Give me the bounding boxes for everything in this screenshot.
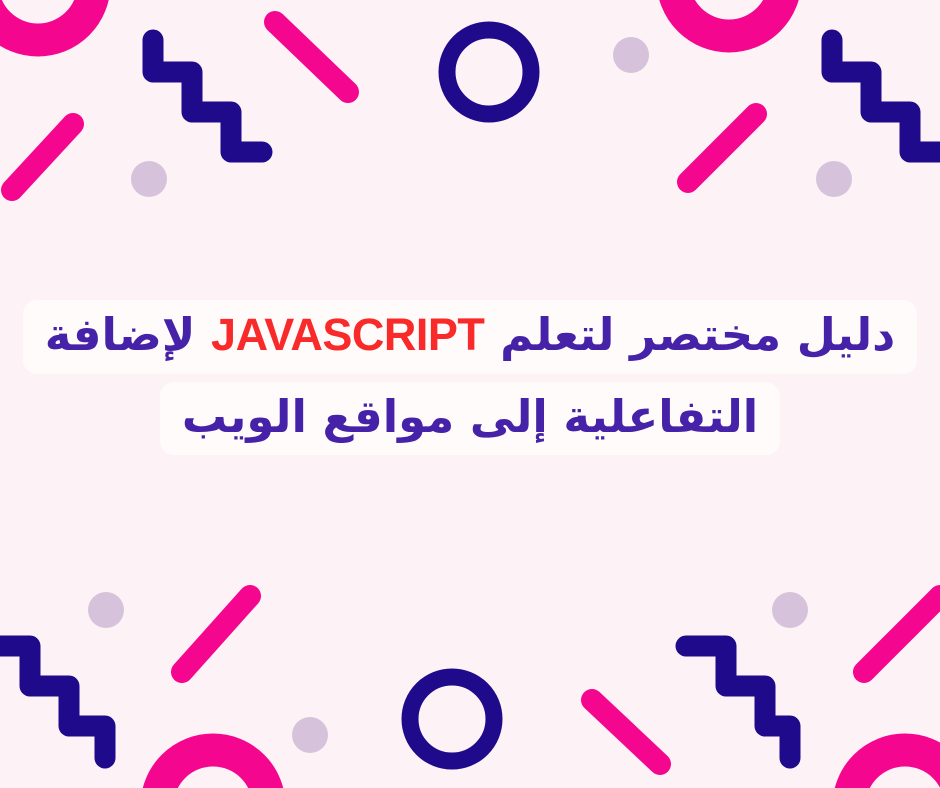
headline-block: دليل مختصر لتعلم JAVASCRIPT لإضافة التفا… <box>0 300 940 455</box>
headline-line-1-text: دليل مختصر لتعلم JAVASCRIPT لإضافة <box>45 306 896 364</box>
pink-ring-bottom-left-icon <box>157 750 269 788</box>
lavender-dot-bottom-center-icon <box>292 717 328 753</box>
pink-bar-top-right-icon <box>275 22 348 92</box>
javascript-keyword: JAVASCRIPT <box>211 309 484 360</box>
pink-bar-bottom-left-icon <box>182 596 250 672</box>
pink-ring-bottom-right-icon <box>849 750 940 788</box>
pink-bar-bottom-mid-icon <box>592 700 660 764</box>
lavender-dot-top-left-icon <box>131 161 167 197</box>
headline-line-1-prefix: دليل مختصر لتعلم <box>500 308 895 361</box>
navy-zigzag-top-left-icon <box>153 40 262 152</box>
pink-bar-top-left-icon <box>12 124 73 190</box>
pink-bar-top-far-right-icon <box>688 114 756 182</box>
lavender-dot-bottom-left-icon <box>88 592 124 628</box>
pink-bar-bottom-right-icon <box>864 596 940 672</box>
lavender-dot-top-right-icon <box>816 161 852 197</box>
pink-ring-top-center-icon <box>673 0 785 36</box>
navy-ring-bottom-icon <box>410 677 494 761</box>
navy-zigzag-top-right-icon <box>832 40 940 152</box>
navy-zigzag-bottom-right-icon <box>686 646 790 758</box>
headline-line-1-box: دليل مختصر لتعلم JAVASCRIPT لإضافة <box>23 300 918 374</box>
headline-line-2-box: التفاعلية إلى مواقع الويب <box>160 382 780 456</box>
lavender-dot-bottom-right-icon <box>772 592 808 628</box>
headline-line-1-suffix: لإضافة <box>45 308 196 361</box>
navy-zigzag-bottom-left-icon <box>0 646 105 758</box>
poster-canvas: دليل مختصر لتعلم JAVASCRIPT لإضافة التفا… <box>0 0 940 788</box>
headline-line-2-text: التفاعلية إلى مواقع الويب <box>182 388 758 446</box>
lavender-dot-top-center-icon <box>613 37 649 73</box>
navy-ring-top-icon <box>447 30 531 114</box>
pink-ring-top-left-icon <box>0 0 94 40</box>
